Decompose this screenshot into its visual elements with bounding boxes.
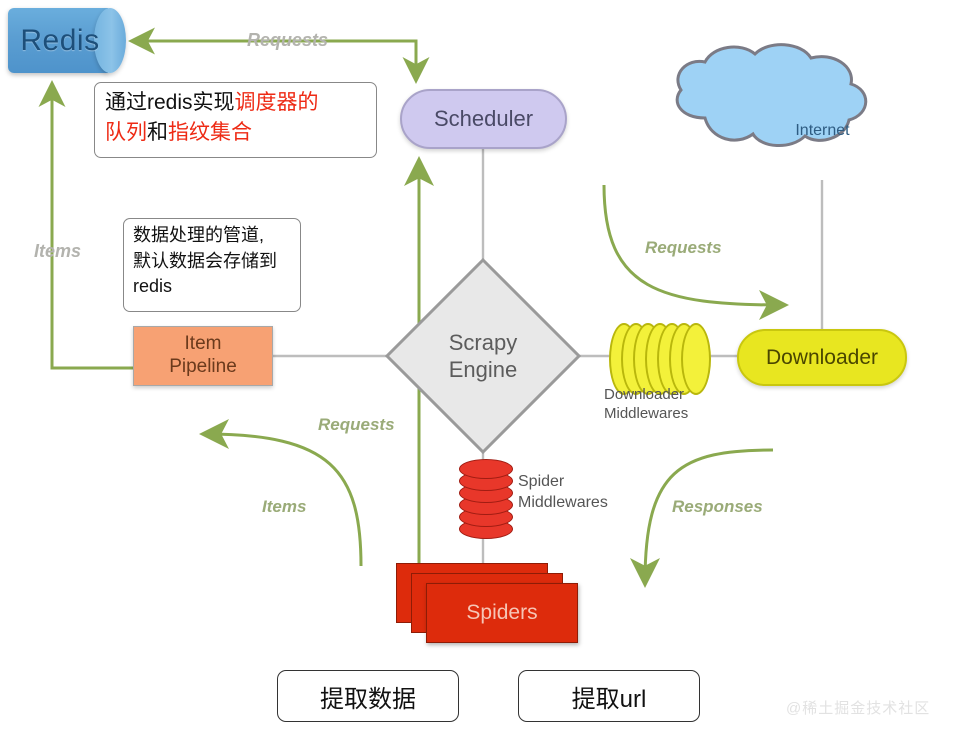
flow-label-items-middle: Items: [262, 497, 306, 517]
flow-label-requests-internet: Requests: [645, 238, 722, 258]
annotation-extract-url-label: 提取url: [572, 679, 647, 714]
flow-label-items-left: Items: [34, 241, 81, 262]
annotation-extract-data: 提取数据: [277, 670, 459, 722]
disc-6: [459, 459, 513, 479]
node-redis[interactable]: Redis: [8, 8, 126, 73]
node-spiders-label: Spiders: [466, 601, 537, 625]
annotation-redis-note-line1-black: 通过redis实现: [105, 91, 235, 114]
annotation-pipeline-note-line3: redis: [133, 274, 291, 300]
diagram-canvas: Redis Scheduler Internet Scrapy Engine I…: [0, 0, 957, 734]
annotation-redis-note-line2-red-a: 队列: [105, 121, 147, 144]
node-spiders[interactable]: Spiders: [396, 563, 576, 641]
node-engine-label-group: Scrapy Engine: [385, 258, 581, 454]
node-internet[interactable]: Internet: [700, 78, 945, 183]
annotation-pipeline-note-line2: 默认数据会存储到: [133, 249, 291, 275]
annotation-redis-note-line2: 队列和指纹集合: [105, 118, 366, 148]
flow-label-requests-middle: Requests: [318, 415, 395, 435]
downloader-middlewares-line2: Middlewares: [604, 405, 744, 424]
spiders-layer-front: Spiders: [426, 583, 578, 643]
node-item-pipeline[interactable]: Item Pipeline: [133, 326, 273, 386]
node-item-pipeline-line1: Item: [185, 333, 222, 356]
annotation-extract-url: 提取url: [518, 670, 700, 722]
node-scheduler-label: Scheduler: [434, 106, 533, 132]
annotation-redis-note-line2-black: 和: [147, 121, 168, 144]
annotation-pipeline-note-line1: 数据处理的管道,: [133, 223, 291, 249]
spider-middlewares-line1: Spider: [518, 472, 648, 493]
annotation-extract-data-label: 提取数据: [320, 679, 416, 714]
node-redis-label: Redis: [8, 8, 112, 73]
node-scheduler[interactable]: Scheduler: [400, 89, 567, 149]
downloader-middlewares-line1: Downloader: [604, 386, 744, 405]
annotation-redis-note-line1-red: 调度器的: [235, 91, 319, 114]
node-downloader[interactable]: Downloader: [737, 329, 907, 386]
annotation-redis-note-line2-red-b: 指纹集合: [168, 121, 252, 144]
watermark: @稀土掘金技术社区: [786, 697, 930, 718]
node-spider-middlewares-label: Spider Middlewares: [518, 472, 648, 514]
node-scrapy-engine[interactable]: Scrapy Engine: [385, 258, 581, 454]
node-engine-label-line1: Scrapy: [449, 329, 517, 357]
node-downloader-label: Downloader: [766, 346, 878, 370]
flow-label-responses: Responses: [672, 497, 763, 517]
disc-stack-icon[interactable]: [459, 455, 511, 537]
annotation-pipeline-note: 数据处理的管道, 默认数据会存储到 redis: [123, 218, 301, 312]
coil-stack-icon[interactable]: [609, 323, 707, 391]
coil-ring-7: [681, 323, 711, 395]
spider-middlewares-line2: Middlewares: [518, 493, 648, 514]
node-engine-label-line2: Engine: [449, 356, 518, 384]
annotation-redis-note-line1: 通过redis实现调度器的: [105, 88, 366, 118]
node-internet-label: Internet: [700, 78, 945, 183]
flow-label-requests-top: Requests: [247, 30, 328, 51]
node-item-pipeline-line2: Pipeline: [169, 356, 237, 379]
annotation-redis-note: 通过redis实现调度器的 队列和指纹集合: [94, 82, 377, 158]
node-downloader-middlewares-label: Downloader Middlewares: [604, 386, 744, 424]
